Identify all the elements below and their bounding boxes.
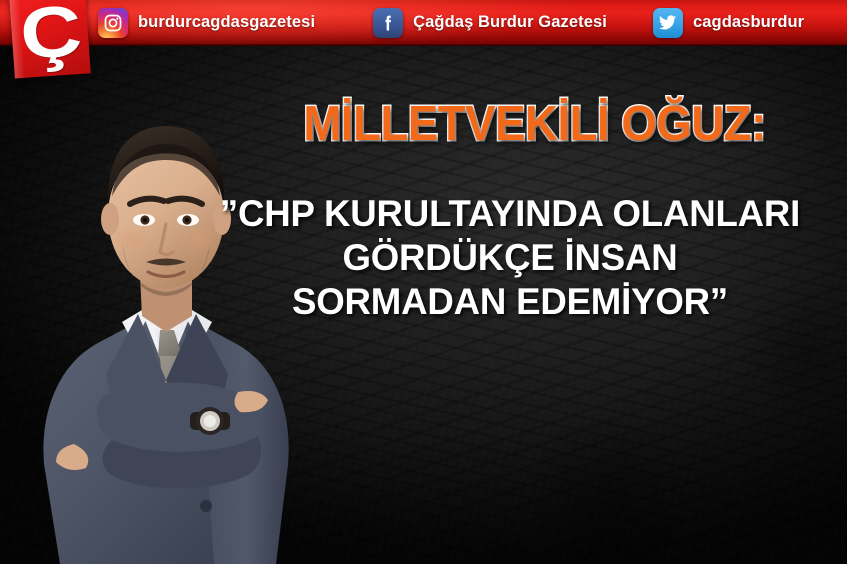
topbar-underline — [0, 44, 847, 46]
social-link-twitter[interactable]: cagdasburdur — [653, 0, 804, 45]
headline: MİLLETVEKİLİ OĞUZ: — [240, 100, 830, 149]
twitter-handle: cagdasburdur — [693, 13, 804, 32]
social-links-group: burdurcagdasgazetesi Çağdaş Burdur Gazet… — [98, 0, 804, 45]
instagram-handle: burdurcagdasgazetesi — [138, 13, 315, 32]
quote-block: ”CHP KURULTAYINDA OLANLARI GÖRDÜKÇE İNSA… — [180, 192, 840, 324]
quote-line-3: SORMADAN EDEMİYOR” — [183, 280, 836, 324]
news-banner: burdurcagdasgazetesi Çağdaş Burdur Gazet… — [0, 0, 847, 564]
social-link-facebook[interactable]: Çağdaş Burdur Gazetesi — [373, 0, 607, 45]
facebook-icon — [373, 8, 403, 38]
social-link-instagram[interactable]: burdurcagdasgazetesi — [98, 0, 315, 45]
twitter-icon — [653, 8, 683, 38]
headline-text: MİLLETVEKİLİ OĞUZ: — [304, 100, 766, 149]
logo-letter: Ç — [2, 0, 97, 77]
quote-line-2: GÖRDÜKÇE İNSAN — [183, 236, 836, 280]
quote-line-1: ”CHP KURULTAYINDA OLANLARI — [183, 192, 836, 236]
social-topbar: burdurcagdasgazetesi Çağdaş Burdur Gazet… — [0, 0, 847, 45]
facebook-handle: Çağdaş Burdur Gazetesi — [413, 13, 607, 32]
site-logo[interactable]: Ç — [9, 0, 91, 79]
instagram-icon — [98, 8, 128, 38]
